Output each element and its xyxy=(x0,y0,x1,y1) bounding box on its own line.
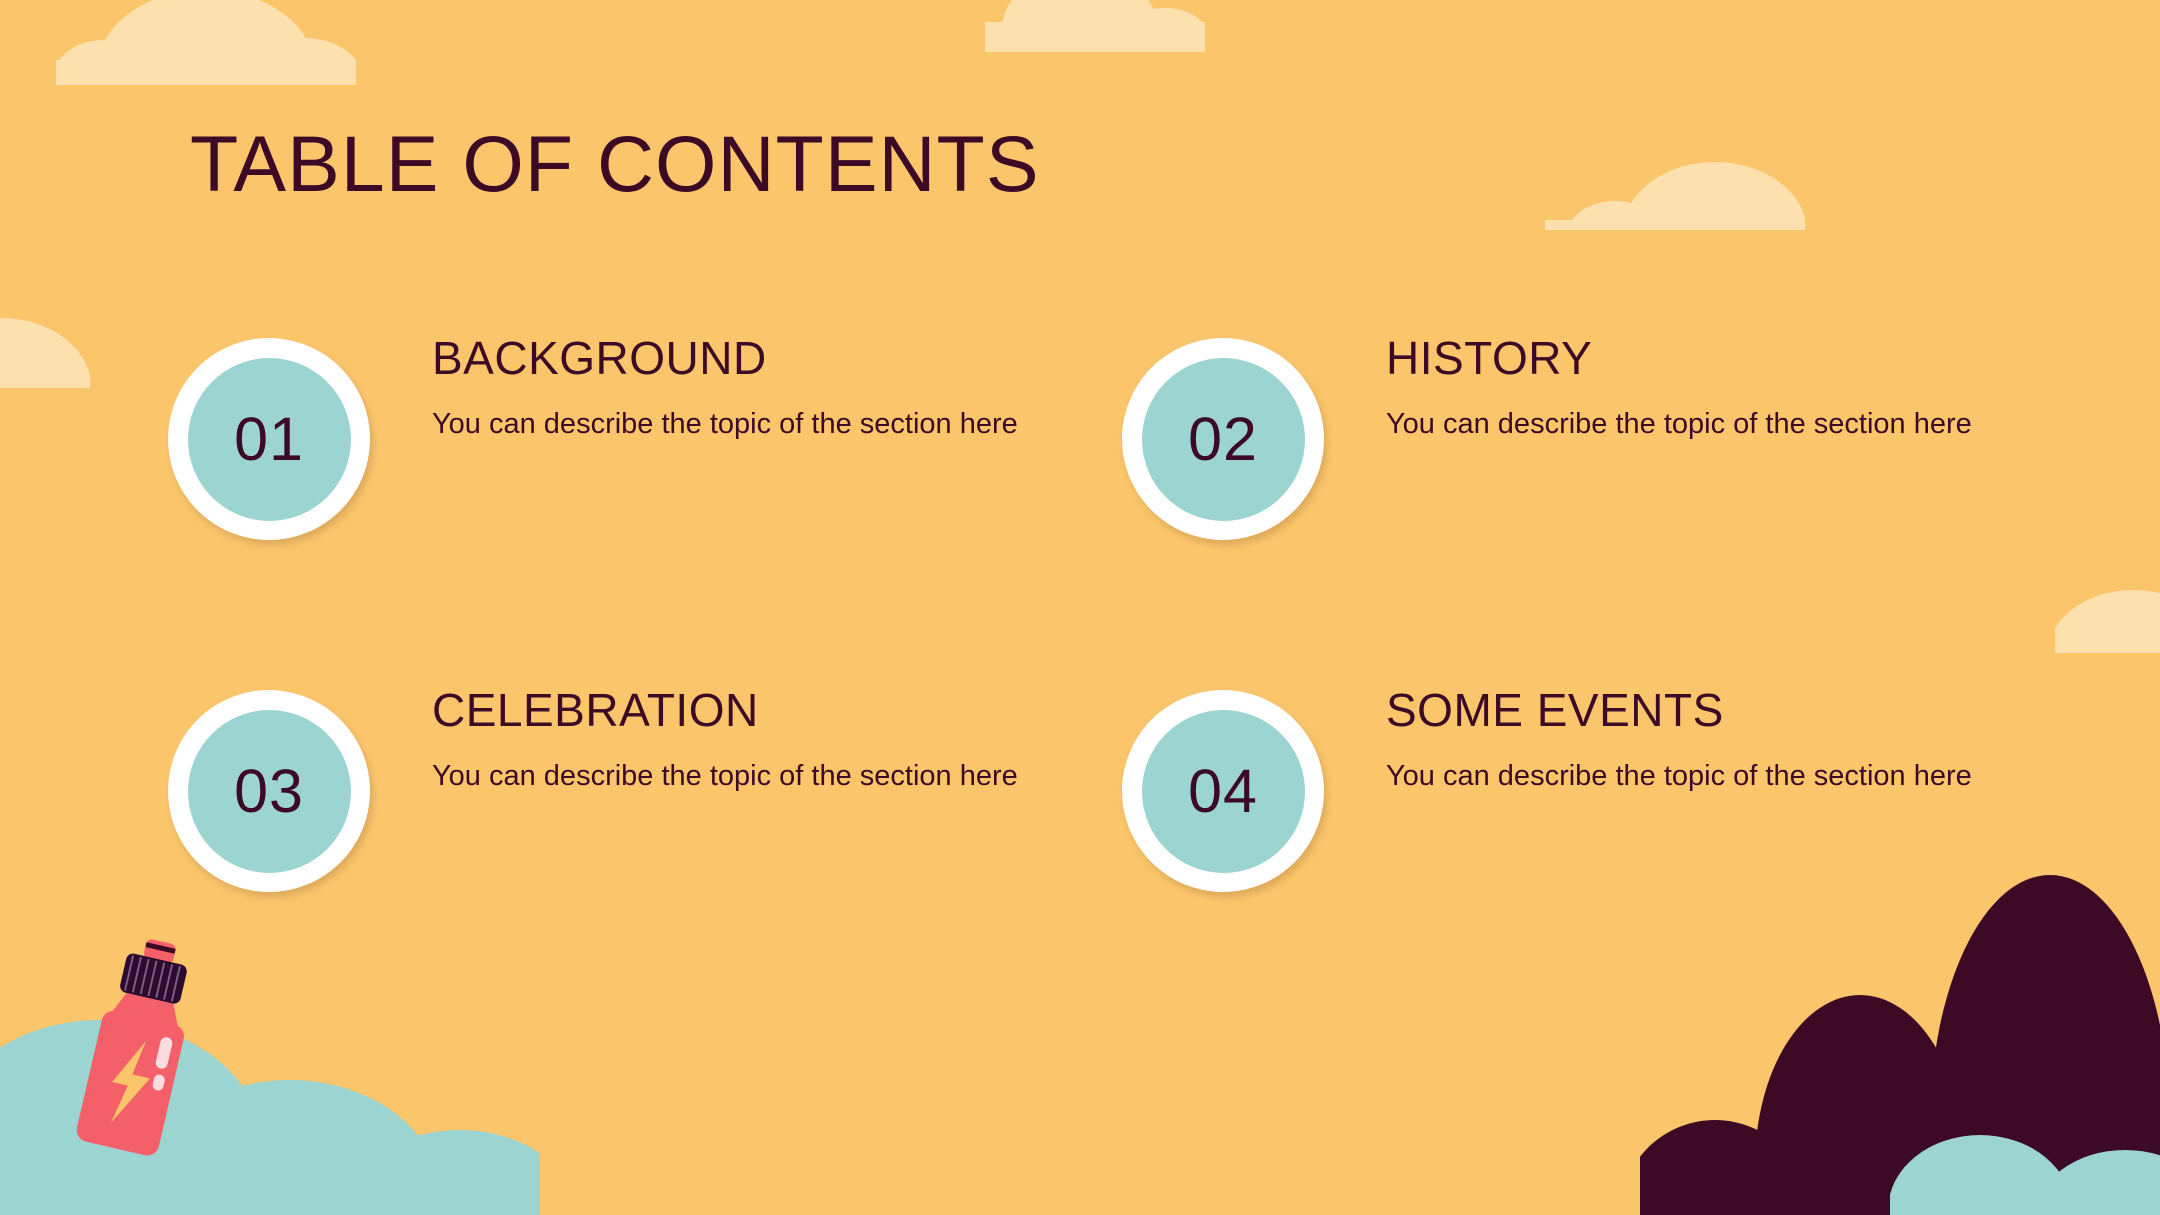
table-of-contents-list: 01 BACKGROUND You can describe the topic… xyxy=(0,330,2160,932)
badge-inner-circle: 02 xyxy=(1142,358,1305,521)
section-number: 02 xyxy=(1188,409,1258,470)
bottom-left-cloud-icon xyxy=(0,960,540,1215)
section-number: 01 xyxy=(234,409,304,470)
top-left-cloud-icon xyxy=(56,0,356,85)
badge-inner-circle: 01 xyxy=(188,358,351,521)
section-number-badge: 04 xyxy=(1122,690,1324,892)
slide-canvas: TABLE OF CONTENTS 01 BACKGROUND You can … xyxy=(0,0,2160,1215)
section-description: You can describe the topic of the sectio… xyxy=(1386,756,1972,796)
section-number-badge: 01 xyxy=(168,338,370,540)
section-number: 04 xyxy=(1188,761,1258,822)
badge-inner-circle: 03 xyxy=(188,710,351,873)
top-right-cloud-icon xyxy=(1545,140,1805,230)
section-text-block: HISTORY You can describe the topic of th… xyxy=(1386,330,1972,444)
section-heading: SOME EVENTS xyxy=(1386,686,1972,734)
page-title: TABLE OF CONTENTS xyxy=(190,118,1040,210)
badge-inner-circle: 04 xyxy=(1142,710,1305,873)
section-number: 03 xyxy=(234,761,304,822)
section-description: You can describe the topic of the sectio… xyxy=(1386,404,1972,444)
section-number-badge: 02 xyxy=(1122,338,1324,540)
top-center-cloud-icon xyxy=(985,0,1205,52)
bottom-right-cloud-icon xyxy=(1890,1100,2160,1215)
water-bottle-icon xyxy=(48,935,228,1165)
section-text-block: SOME EVENTS You can describe the topic o… xyxy=(1386,682,1972,796)
section-heading: HISTORY xyxy=(1386,334,1972,382)
section-number-badge: 03 xyxy=(168,690,370,892)
